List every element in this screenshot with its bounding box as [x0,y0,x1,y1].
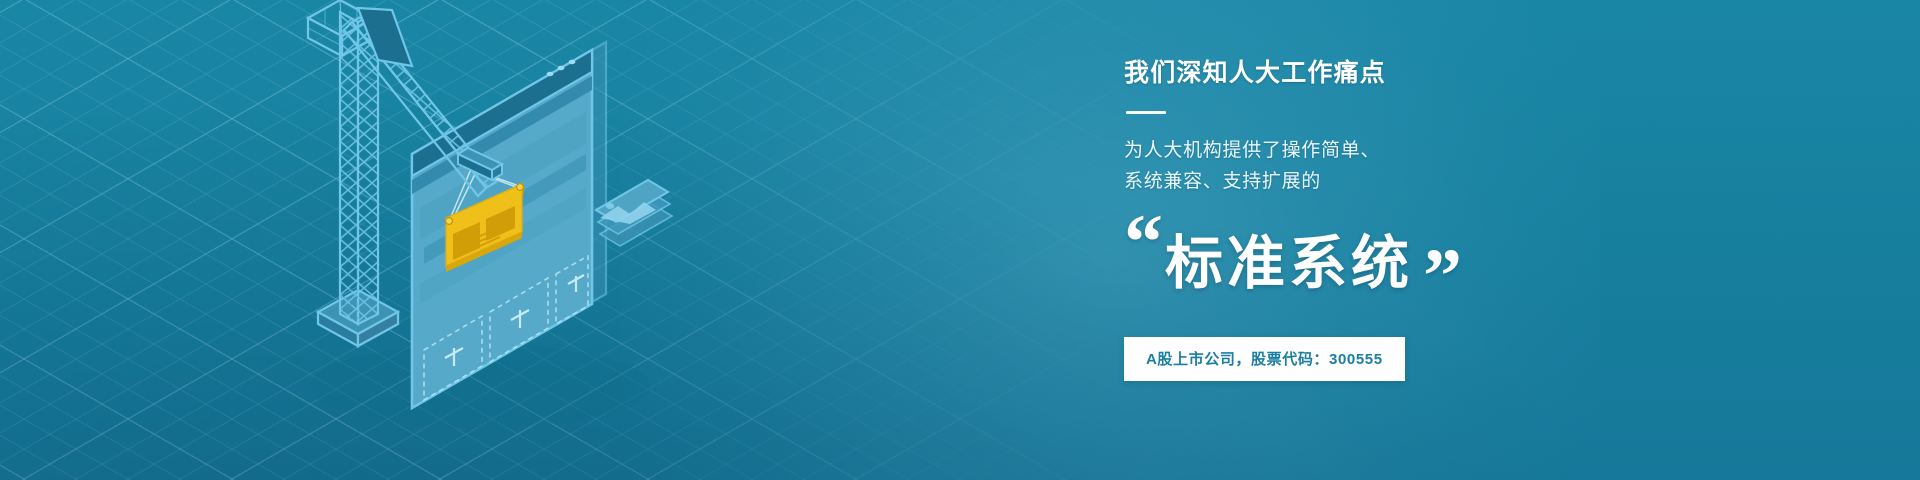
quote-open-icon: “ [1124,203,1159,281]
stock-listing-badge: A股上市公司，股票代码：300555 [1124,337,1405,381]
headline: 我们深知人大工作痛点 [1124,58,1844,89]
copy-block: 我们深知人大工作痛点 为人大机构提供了操作简单、 系统兼容、支持扩展的 “ 标准… [1124,58,1844,428]
subtitle: 为人大机构提供了操作简单、 系统兼容、支持扩展的 [1124,136,1844,197]
hero-illustration [300,0,680,424]
image-card-stack [596,180,672,246]
photo-sun-icon [606,203,614,209]
hero-banner: 我们深知人大工作痛点 为人大机构提供了操作简单、 系统兼容、支持扩展的 “ 标准… [0,0,1920,480]
banner-eyelet-left [446,218,453,225]
subtitle-line-1: 为人大机构提供了操作简单、 [1124,136,1844,166]
headline-divider [1126,111,1166,114]
feature-title: 标准系统 [1165,235,1413,293]
quote-close-icon: ” [1423,237,1458,315]
banner-eyelet-right [517,184,524,191]
feature-row: “ 标准系统 ” [1124,207,1844,307]
subtitle-line-2: 系统兼容、支持扩展的 [1124,167,1844,197]
